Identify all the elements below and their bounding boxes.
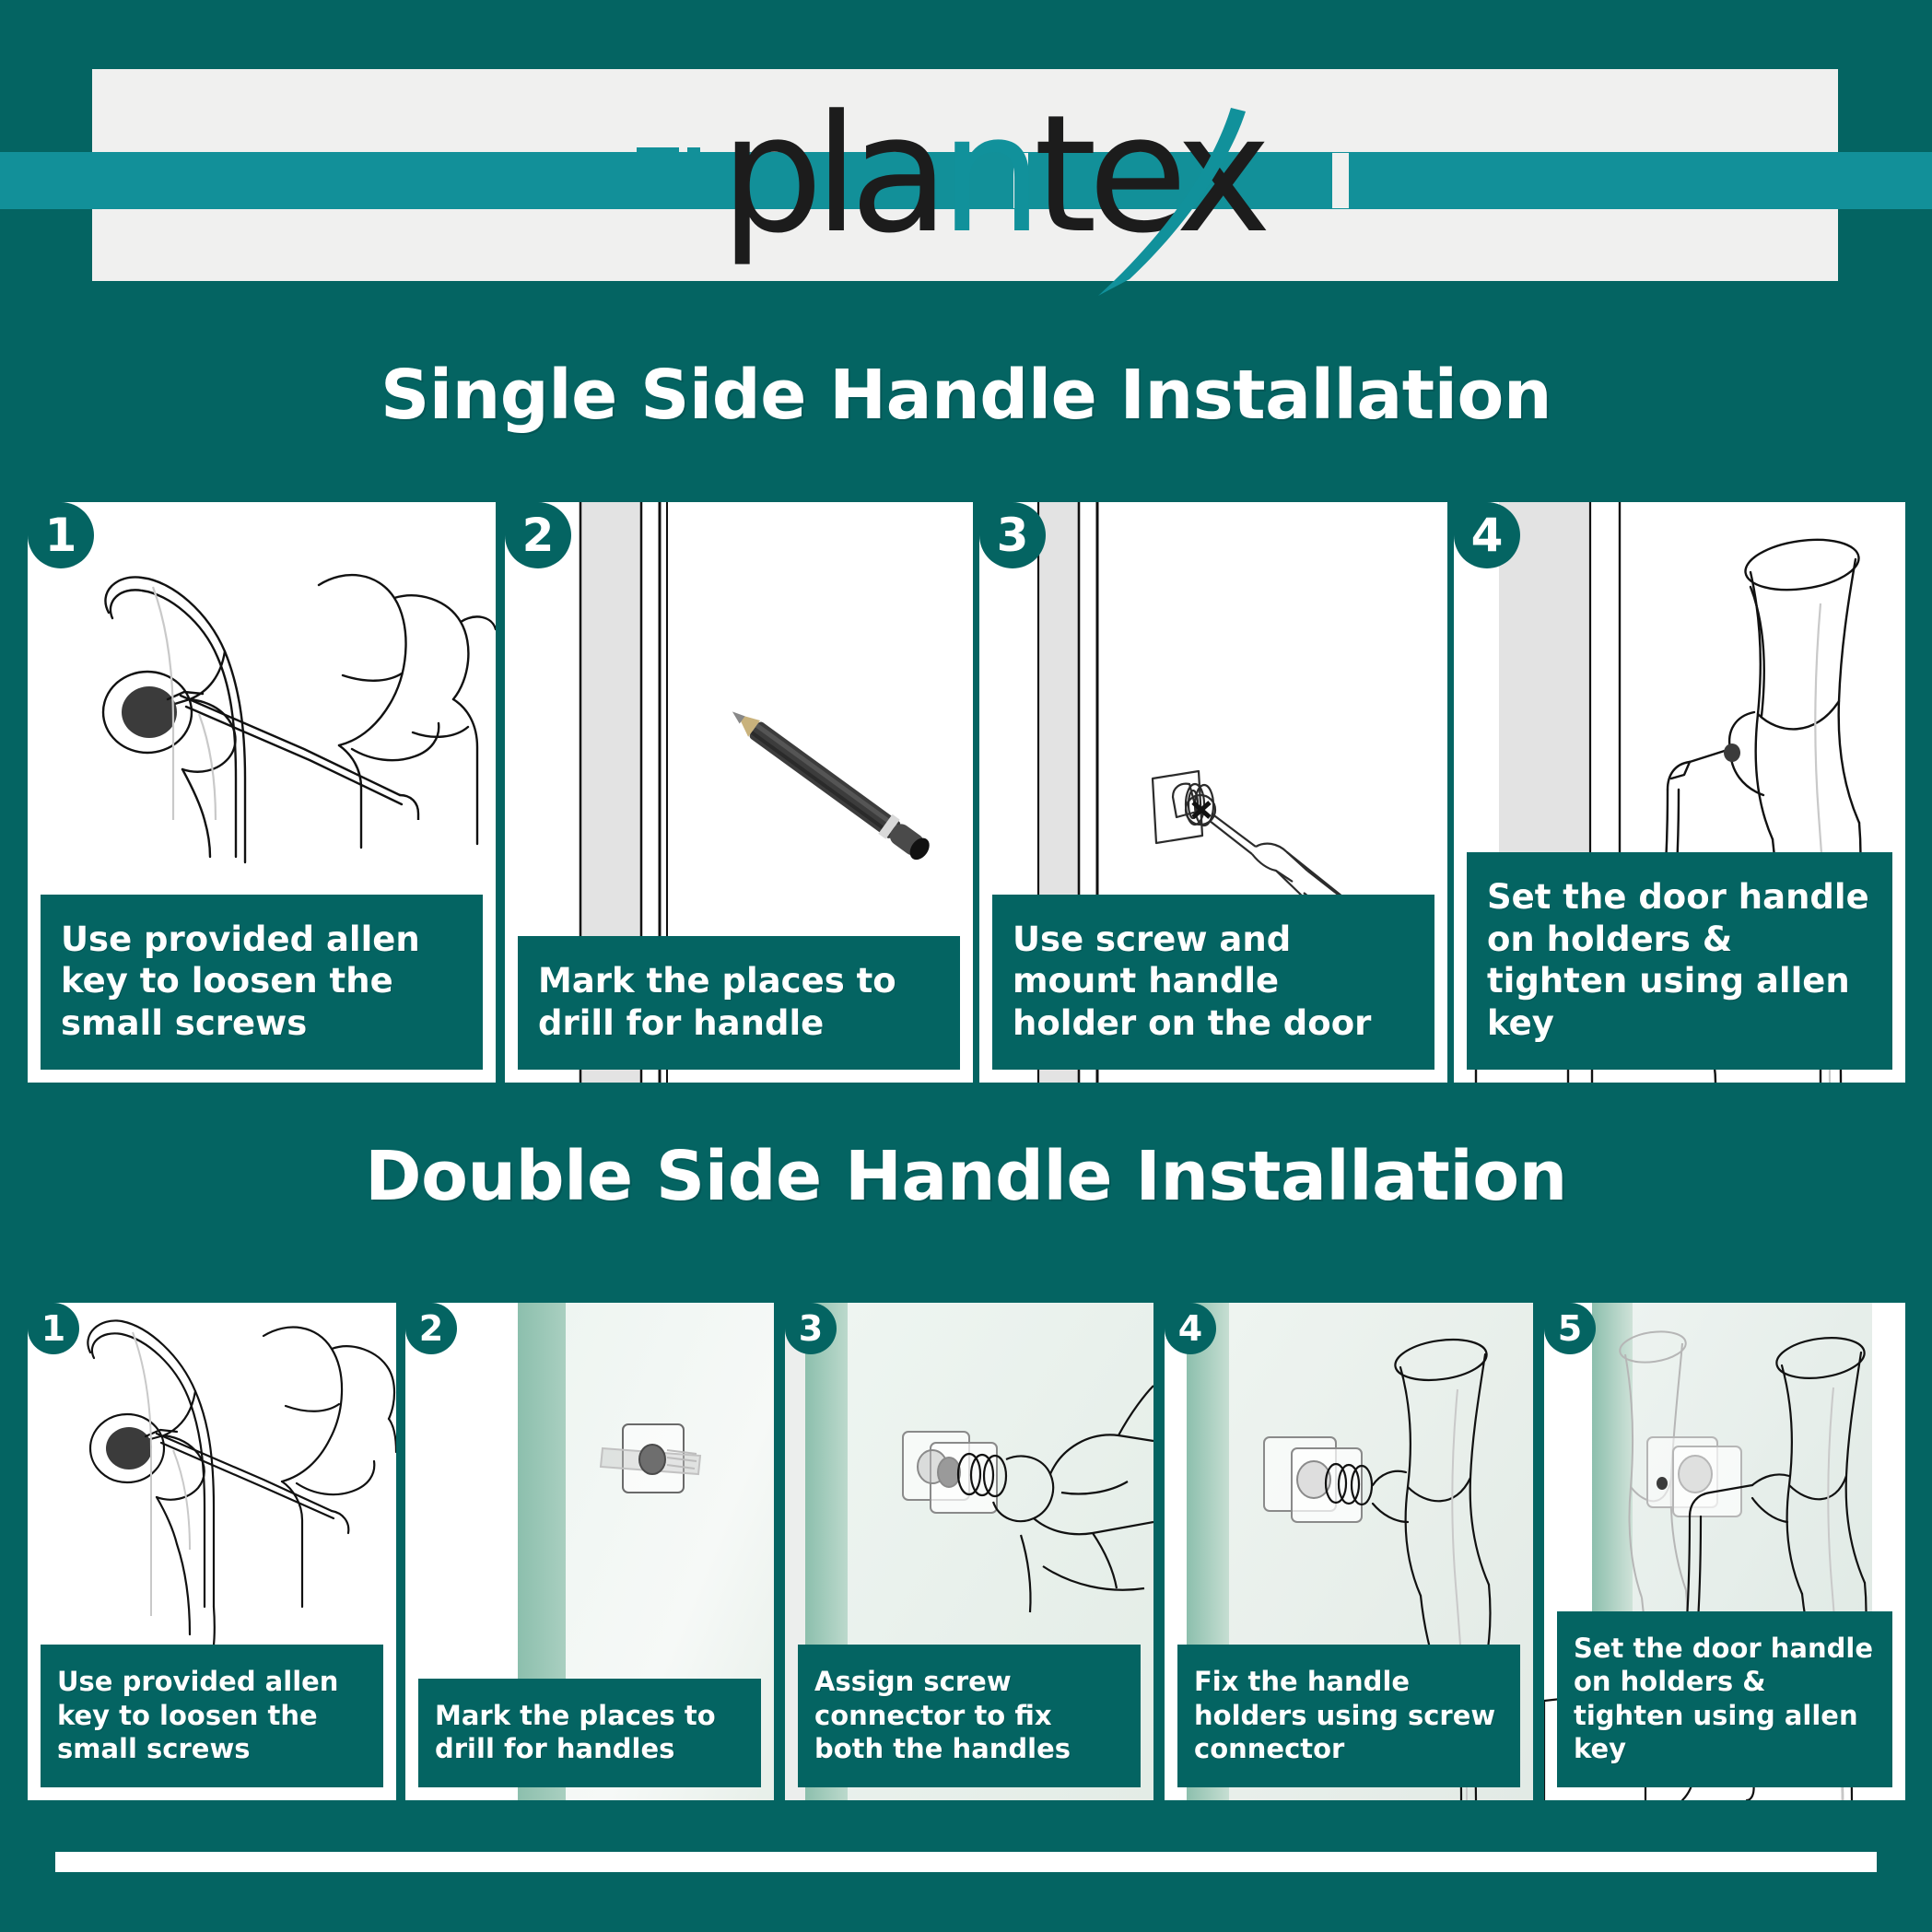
logo-square-mark <box>637 147 679 203</box>
step-caption-s2-5: Set the door handle on holders & tighten… <box>1557 1611 1892 1787</box>
logo-text-pla: pla <box>720 80 940 269</box>
step-badge-s1-3: 3 <box>979 502 1046 568</box>
step-badge-s2-2: 2 <box>405 1303 457 1354</box>
step-panel-s2-3[interactable]: 3 Assign screw connector to fix both the… <box>785 1303 1153 1800</box>
logo-text-n: n <box>940 80 1034 269</box>
brand-logo: plantex <box>0 69 1932 281</box>
step-panel-s1-3[interactable]: 3 Use screw and mount handle holder on t… <box>979 502 1447 1083</box>
step-badge-s2-5: 5 <box>1544 1303 1596 1354</box>
step-panel-s1-4[interactable]: 4 Set the door handle on holders & tight… <box>1454 502 1905 1083</box>
step-panel-s2-1[interactable]: 1 Use provided allen key to loosen the s… <box>28 1303 396 1800</box>
step-badge-s1-4: 4 <box>1454 502 1520 568</box>
brand-header: plantex <box>0 0 1932 304</box>
logo-bar-mark <box>687 147 700 203</box>
step-panel-s2-5[interactable]: 5 Set the door handle on holders & tight… <box>1544 1303 1905 1800</box>
step-badge-s2-3: 3 <box>785 1303 837 1354</box>
step-caption-s1-3: Use screw and mount handle holder on the… <box>992 895 1434 1071</box>
page-title-single-side: Single Side Handle Installation <box>0 356 1932 435</box>
step-badge-s1-1: 1 <box>28 502 94 568</box>
step-caption-s2-3: Assign screw connector to fix both the h… <box>798 1645 1141 1787</box>
step-caption-s2-2: Mark the places to drill for handles <box>418 1679 761 1788</box>
step-panel-s1-1-lower: Use provided allen key to loosen the sma… <box>28 820 496 1083</box>
infographic-page: plantex Single Side Handle Installation <box>0 0 1932 1932</box>
logo-text-tex: tex <box>1034 80 1262 269</box>
step-caption-s1-2: Mark the places to drill for handle <box>518 936 960 1070</box>
step-badge-s2-4: 4 <box>1165 1303 1216 1354</box>
step-panel-s1-2[interactable]: 2 Mark the places to drill for handle <box>505 502 973 1083</box>
step-caption-s1-1: Use provided allen key to loosen the sma… <box>41 895 483 1071</box>
page-title-double-side: Double Side Handle Installation <box>0 1137 1932 1216</box>
step-badge-s1-2: 2 <box>505 502 571 568</box>
step-caption-s2-4: Fix the handle holders using screw conne… <box>1177 1645 1520 1787</box>
step-caption-s2-1: Use provided allen key to loosen the sma… <box>41 1645 383 1787</box>
step-caption-s1-4: Set the door handle on holders & tighten… <box>1467 852 1892 1070</box>
step-badge-s2-1: 1 <box>28 1303 79 1354</box>
step-panel-s2-2[interactable]: 2 Mark the places to drill for handles <box>405 1303 774 1800</box>
step-panel-s2-4[interactable]: 4 Fix the handle holders using screw con… <box>1165 1303 1533 1800</box>
footer-divider-bar <box>55 1852 1877 1872</box>
logo-wordmark: plantex <box>720 100 1262 250</box>
